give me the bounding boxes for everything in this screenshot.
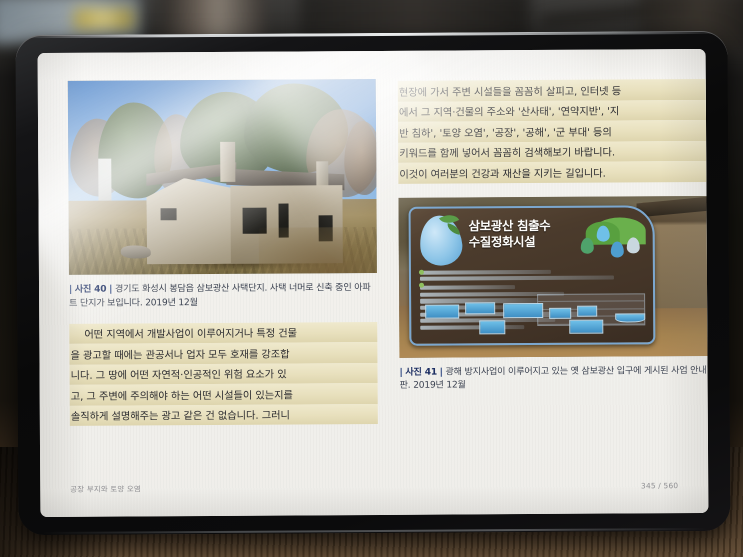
highlighted-line: 어떤 지역에서 개발사업이 이루어지거나 특정 건물	[69, 322, 377, 344]
caption-tag: 사진 41	[405, 367, 437, 377]
right-column: 현장에 가서 주변 시설들을 꼼꼼히 살피고, 인터넷 등 에서 그 지역·건물…	[398, 77, 708, 483]
rock	[121, 245, 151, 258]
highlighted-line: 반 침하', '토양 오염', '공장', '공해', '군 부대' 등의	[398, 120, 706, 142]
apartment-under-construction	[98, 159, 111, 201]
highlighted-line: 을 광고할 때에는 관공서나 업자 모두 호재를 강조합	[69, 342, 377, 364]
signboard-title-line-2: 수질정화시설	[469, 234, 591, 251]
signboard-title: 삼보광산 침출수 수질정화시설	[469, 217, 591, 250]
tablet-screen[interactable]: | 사진 40 | 경기도 화성시 봉담읍 삼보광산 사택단지. 사택 너머로 …	[38, 49, 709, 517]
dry-brush	[259, 227, 377, 274]
footer-page-indicator: 345 / 560	[641, 481, 678, 490]
caption-bar-right: |	[440, 367, 443, 377]
background-yellow-object	[74, 8, 134, 30]
caption-bar-right: |	[109, 285, 112, 295]
information-signboard: 삼보광산 침출수 수질정화시설	[409, 205, 656, 346]
caption-bar-left: |	[69, 285, 72, 295]
facility-layout-diagram	[419, 299, 651, 338]
tablet-device[interactable]: | 사진 40 | 경기도 화성시 봉담읍 삼보광산 사택단지. 사택 너머로 …	[15, 31, 730, 535]
highlighted-line: 니다. 그 땅에 어떤 자연적·인공적인 위험 요소가 있	[69, 363, 377, 385]
highlighted-line: 고, 그 주변에 주의해야 하는 어떤 시설들이 있는지를	[70, 383, 378, 405]
photo-41-mine-signboard: 삼보광산 침출수 수질정화시설	[398, 195, 707, 357]
photo-41-caption: | 사진 41 | 광해 방지사업이 이루어지고 있는 옛 삼보광산 입구에 게…	[399, 355, 707, 394]
caption-bar-left: |	[400, 367, 403, 377]
caption-text: 광해 방지사업이 이루어지고 있는 옛 삼보광산 입구에 게시된 사업 안내판.…	[400, 365, 707, 391]
highlighted-line: 이것이 여러분의 건강과 재산을 지키는 길입니다.	[398, 161, 706, 183]
left-body-text: 어떤 지역에서 개발사업이 이루어지거나 특정 건물 을 광고할 때에는 관공서…	[69, 322, 378, 426]
photo-scene: | 사진 40 | 경기도 화성시 봉담읍 삼보광산 사택단지. 사택 너머로 …	[0, 0, 743, 557]
signboard-title-line-1: 삼보광산 침출수	[469, 217, 591, 234]
highlighted-line: 에서 그 지역·건물의 주소와 '산사태', '연약지반', '지	[398, 99, 706, 121]
left-column: | 사진 40 | 경기도 화성시 봉담읍 삼보광산 사택단지. 사택 너머로 …	[68, 79, 378, 485]
caption-tag: 사진 40	[75, 285, 107, 295]
photo-40-caption: | 사진 40 | 경기도 화성시 봉담읍 삼보광산 사택단지. 사택 너머로 …	[69, 273, 377, 312]
photo-40-abandoned-house	[68, 79, 377, 275]
page-footer: 공장 부지와 토양 오염 345 / 560	[70, 480, 678, 495]
ebook-page-content: | 사진 40 | 경기도 화성시 봉담읍 삼보광산 사택단지. 사택 너머로 …	[38, 49, 709, 517]
right-body-text: 현장에 가서 주변 시설들을 꼼꼼히 살피고, 인터넷 등 에서 그 지역·건물…	[398, 79, 707, 183]
footer-chapter-title: 공장 부지와 토양 오염	[70, 483, 141, 494]
highlighted-line: 솔직하게 설명해주는 광고 같은 건 없습니다. 그러니	[70, 404, 378, 426]
chimney-secondary-icon	[316, 161, 328, 187]
chimney-icon	[220, 142, 235, 182]
caption-text: 경기도 화성시 봉담읍 삼보광산 사택단지. 사택 너머로 신축 중인 아파트 …	[69, 283, 370, 309]
highlighted-line: 키워드를 함께 넣어서 꼼꼼히 검색해보기 바랍니다.	[398, 140, 706, 162]
two-column-layout: | 사진 40 | 경기도 화성시 봉담읍 삼보광산 사택단지. 사택 너머로 …	[68, 77, 678, 485]
highlighted-line: 현장에 가서 주변 시설들을 꼼꼼히 살피고, 인터넷 등	[398, 79, 706, 101]
